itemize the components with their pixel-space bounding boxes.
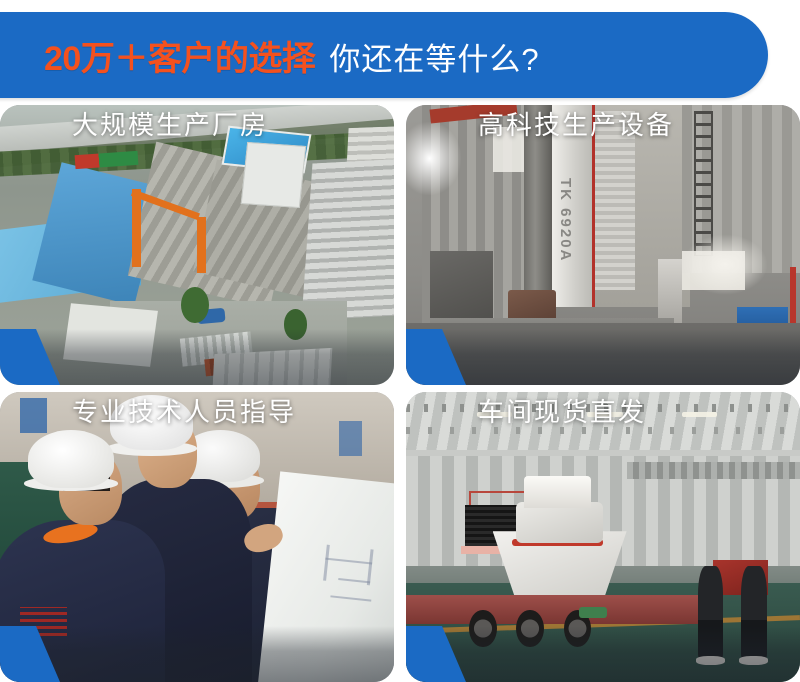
card-large-scale-production-plant[interactable]: 大规模生产厂房 [0,105,394,385]
caption-blue-tag [0,626,36,682]
blueprint-line [325,558,372,565]
mezzanine-walkway [627,462,800,479]
blueprint-line [338,578,370,583]
header-accent-text: 20万＋客户的选择 [44,31,315,80]
card-workshop-direct-shipment[interactable]: 车间现货直发 [406,392,800,682]
card-caption-workshop-direct-shipment: 车间现货直发 [478,392,800,429]
trailer-wheel [516,610,544,648]
card-caption-large-scale-production-plant: 大规模生产厂房 [72,105,394,142]
header-banner: 20万＋客户的选择 你还在等什么? [0,12,768,98]
worker-1-hard-hat [28,430,115,488]
right-office-block [302,159,394,321]
window-glare-left [406,122,461,195]
white-roof-shed [63,303,158,367]
machine-model-label: TK 6920A [557,178,574,262]
window-glare-right [682,234,769,296]
foreground-building [211,348,332,385]
person-shoes [696,656,726,665]
machine-control-cabinet [658,259,682,323]
crusher-mid-body [516,502,603,543]
background-blue-sign [20,398,48,433]
person-second [741,566,767,659]
person-in-black-coat [698,566,724,659]
blueprint-line [330,595,371,601]
card-caption-professional-technical-guidance: 专业技术人员指导 [72,392,394,429]
person-shoes [739,656,769,665]
card-professional-technical-guidance[interactable]: 专业技术人员指导 [0,392,394,682]
blueprint-line [323,544,330,580]
flatbed-trailer-deck [406,595,705,624]
header-banner-text-group: 20万＋客户的选择 你还在等什么? [44,31,540,80]
caption-blue-tag [0,329,36,385]
promotional-banner-page: 20万＋客户的选择 你还在等什么? [0,0,800,682]
gantry-crane-leg-left [132,189,141,267]
gantry-crane-leg-right [197,217,206,273]
card-caption-high-tech-production-equipment: 高科技生产设备 [478,105,800,142]
caption-blue-tag [406,626,442,682]
yard-tree-left [181,287,209,323]
white-office-building [241,142,307,208]
photo-grid: 大规模生产厂房 TK 6920A [0,105,800,682]
green-cover-bag [579,607,607,619]
caption-blue-tag [406,329,442,385]
header-sub-text: 你还在等什么? [329,34,539,79]
crusher-feed-hopper [524,476,591,508]
card-high-tech-production-equipment[interactable]: TK 6920A 高科技生产设备 [406,105,800,385]
blueprint-sheet [257,471,394,682]
trailer-wheel [469,610,497,648]
